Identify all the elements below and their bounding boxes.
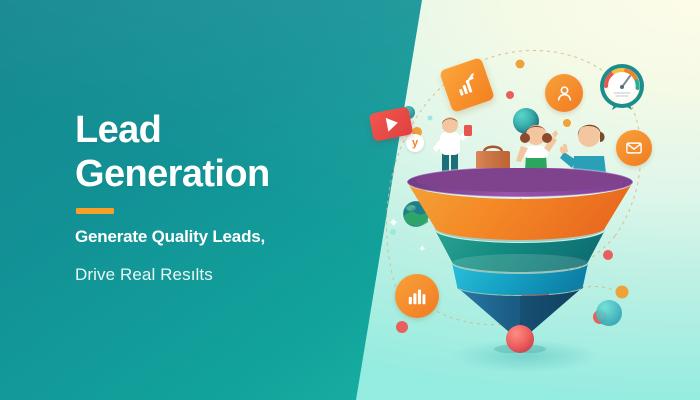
sparkle-icon: ✦ bbox=[388, 216, 399, 229]
subtitle-line-2: Drive Real Resılts bbox=[75, 265, 375, 285]
headline-line-2: Generation bbox=[75, 152, 375, 196]
page-title: Lead Generation bbox=[75, 108, 375, 196]
text-block: Lead Generation Generate Quality Leads, … bbox=[75, 108, 375, 285]
user-profile-icon bbox=[545, 74, 583, 112]
play-triangle-icon bbox=[386, 116, 399, 132]
funnel-graphic bbox=[405, 168, 635, 348]
analytics-gauge-icon bbox=[598, 62, 646, 112]
headline-line-1: Lead bbox=[75, 109, 161, 151]
sales-funnel-illustration: ✦ ✦ ✦ ✦ ✦ y bbox=[360, 0, 700, 400]
email-envelope-icon bbox=[616, 130, 652, 166]
subtitle-line-1: Generate Quality Leads, bbox=[75, 227, 375, 247]
accent-divider bbox=[76, 208, 114, 214]
lead-generation-banner: Lead Generation Generate Quality Leads, … bbox=[0, 0, 700, 400]
social-bubble-icon: y bbox=[406, 134, 424, 152]
